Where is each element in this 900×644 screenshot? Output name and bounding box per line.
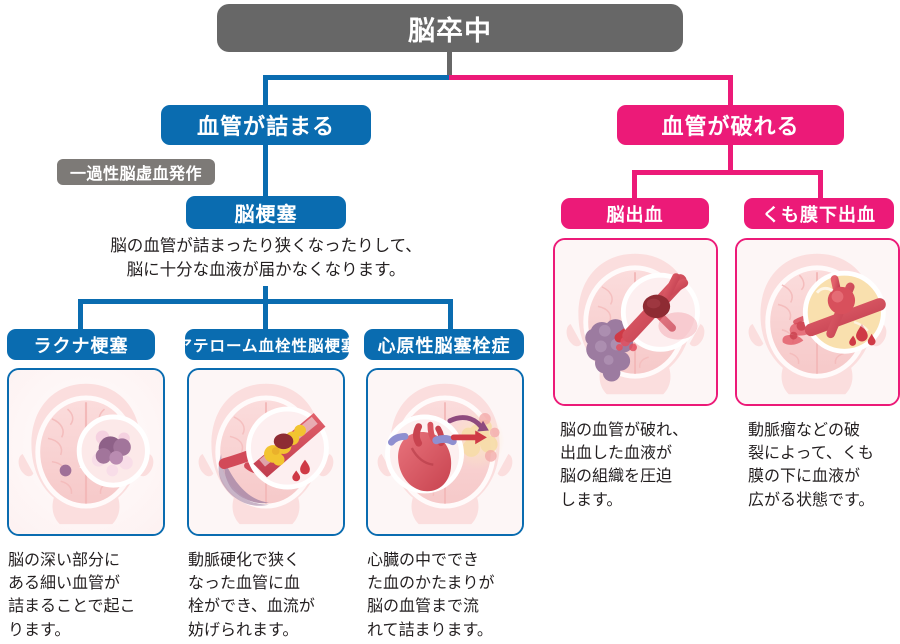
subtype-label-cardiogenic: 心原性脳塞栓症 bbox=[378, 332, 511, 358]
subtype-caption-cardiogenic: 心臓の中ででき た血のかたまりが 脳の血管まで流 れて詰まります。 bbox=[367, 549, 537, 642]
connector-subtype-drop-3 bbox=[448, 299, 453, 329]
subtype-node-atherothrombotic: アテローム血栓性脳梗塞 bbox=[185, 329, 349, 360]
tia-tag: 一過性脳虚血発作 bbox=[57, 159, 215, 185]
connector-hemorrhagic-stem bbox=[728, 145, 733, 172]
figure-lacunar-infarct bbox=[7, 368, 165, 536]
branch-label-hemorrhagic: 血管が破れる bbox=[661, 109, 799, 141]
subtype-label-lacunar: ラクナ梗塞 bbox=[34, 332, 129, 358]
brain-atherothrombotic-plaque-illustration bbox=[189, 370, 343, 534]
subtype-caption-atherothrombotic: 動脈硬化で狭く なった血管に血 栓ができ、血流が 妨げられます。 bbox=[188, 549, 358, 642]
figure-subarachnoid-hemorrhage bbox=[735, 238, 900, 406]
connector-ischemic-stem bbox=[263, 145, 268, 196]
subtype-caption-intracerebral-hemorrhage: 脳の血管が破れ、 出血した血液が 脳の組織を圧迫 します。 bbox=[560, 419, 730, 512]
connector-top-blue-drop bbox=[263, 75, 268, 108]
connector-hemorrhagic-drop-2 bbox=[818, 170, 823, 198]
connector-subtype-drop-1 bbox=[78, 299, 83, 329]
subtype-node-subarachnoid-hemorrhage: くも膜下出血 bbox=[744, 198, 894, 229]
diagram-title-node: 脳卒中 bbox=[217, 4, 683, 52]
diagram-title-label: 脳卒中 bbox=[408, 9, 492, 48]
heart-embolus-to-brain-illustration bbox=[368, 370, 522, 534]
subtype-caption-lacunar: 脳の深い部分に ある細い血管が 詰まることで起こ ります。 bbox=[8, 549, 178, 642]
figure-intracerebral-hemorrhage bbox=[553, 238, 718, 406]
connector-subtype-drop-2 bbox=[263, 299, 268, 329]
figure-cardiogenic bbox=[366, 368, 524, 536]
stroke-classification-diagram: 脳卒中 血管が詰まる 一過性脳虚血発作 脳梗塞 脳の血管が詰まったり狭くなったり… bbox=[0, 0, 900, 644]
subtype-label-intracerebral-hemorrhage: 脳出血 bbox=[607, 201, 664, 227]
subtype-label-atherothrombotic: アテローム血栓性脳梗塞 bbox=[176, 334, 357, 356]
node-cerebral-infarction-label: 脳梗塞 bbox=[235, 198, 298, 227]
ischemic-description: 脳の血管が詰まったり狭くなったりして、 脳に十分な血液が届かなくなります。 bbox=[76, 235, 456, 283]
subtype-node-lacunar: ラクナ梗塞 bbox=[7, 329, 155, 360]
brain-lacunar-infarct-illustration bbox=[9, 370, 163, 534]
node-cerebral-infarction: 脳梗塞 bbox=[186, 196, 346, 229]
brain-intracerebral-hemorrhage-illustration bbox=[555, 240, 716, 404]
branch-label-ischemic: 血管が詰まる bbox=[197, 109, 335, 141]
connector-top-pink-drop bbox=[728, 75, 733, 108]
figure-atherothrombotic bbox=[187, 368, 345, 536]
subtype-node-intracerebral-hemorrhage: 脳出血 bbox=[561, 198, 709, 229]
connector-hemorrhagic-bar bbox=[632, 170, 823, 175]
tia-tag-label: 一過性脳虚血発作 bbox=[70, 160, 202, 184]
subtype-caption-subarachnoid-hemorrhage: 動脈瘤などの破 裂によって、くも 膜の下に血液が 広がる状態です。 bbox=[748, 419, 900, 512]
connector-top-pink-arm bbox=[449, 75, 733, 80]
branch-node-hemorrhagic: 血管が破れる bbox=[617, 105, 844, 145]
subtype-label-subarachnoid-hemorrhage: くも膜下出血 bbox=[762, 201, 876, 227]
connector-top-blue-arm bbox=[263, 75, 450, 80]
subtype-node-cardiogenic: 心原性脳塞栓症 bbox=[364, 329, 524, 360]
branch-node-ischemic: 血管が詰まる bbox=[161, 105, 371, 145]
connector-hemorrhagic-drop-1 bbox=[632, 170, 637, 198]
brain-subarachnoid-aneurysm-illustration bbox=[737, 240, 898, 404]
